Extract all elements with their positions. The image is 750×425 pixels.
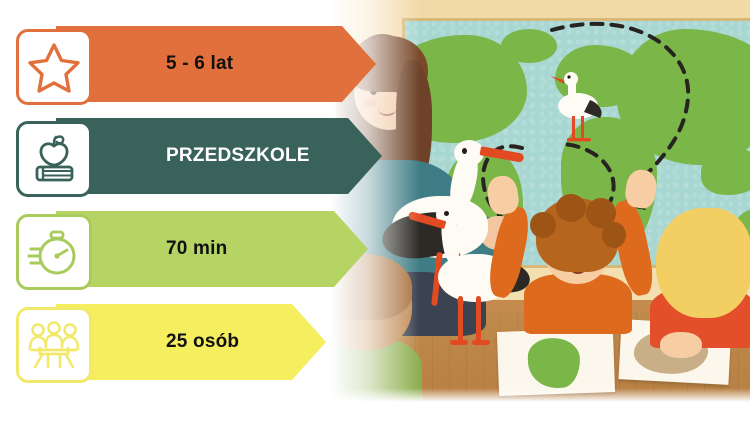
badge-age: 5 - 6 lat [16,20,92,108]
table-stork-foot-left [450,340,468,345]
stork-on-map-icon [548,66,606,152]
child-curl-2 [556,194,586,222]
badge-people-label: 25 osób [166,331,239,353]
table-stork-leg-left [458,296,463,342]
table-stork-foot-right [472,340,490,345]
illustration-bottom-fade [330,388,750,402]
star-icon [27,40,81,94]
africa-worksheet [497,328,615,396]
badge-people: 25 osób [16,298,92,386]
badge-age-bar: 5 - 6 lat [56,26,376,102]
child-drawing-hair [656,208,750,318]
child-curl-4 [602,222,626,248]
badge-level-bar: PRZEDSZKOLE [56,118,382,194]
table-stork-eye [444,211,449,216]
child-drawing-hand [660,332,702,358]
badge-people-icon-box [16,307,92,383]
stopwatch-icon [27,225,81,279]
badge-time-label: 70 min [166,238,227,260]
badge-time-bar: 70 min [56,211,368,287]
classroom-illustration [330,0,750,402]
lesson-info-card: 5 - 6 lat PRZEDSZKOLE 70 min [0,0,750,425]
badge-level: PRZEDSZKOLE [16,112,92,200]
held-stork-eye [462,148,467,154]
africa-shape-icon [527,337,581,389]
badge-age-label: 5 - 6 lat [166,53,233,75]
badge-age-icon-box [16,29,92,105]
badge-time: 70 min [16,205,92,293]
badge-level-label: PRZEDSZKOLE [166,145,310,167]
group-at-table-icon [26,317,82,373]
badge-level-icon-box [16,121,92,197]
table-stork-leg-right [476,296,481,342]
child-curl-1 [530,212,556,238]
badge-people-bar: 25 osób [56,304,326,380]
apple-on-books-icon [27,132,81,186]
badge-time-icon-box [16,214,92,290]
